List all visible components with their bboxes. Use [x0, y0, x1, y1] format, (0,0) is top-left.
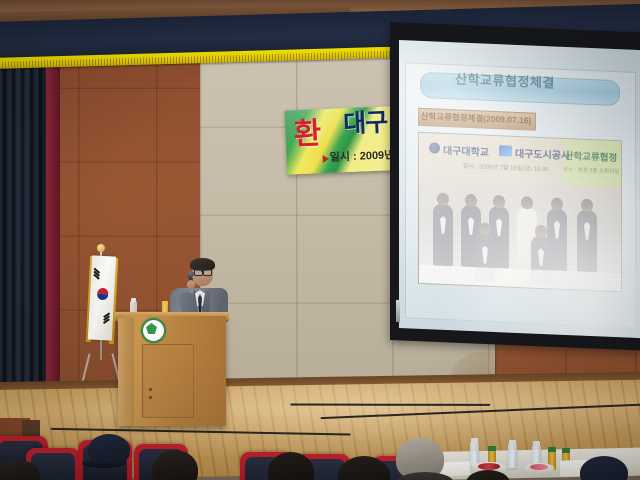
taeguk-blue-half	[97, 294, 108, 301]
glasses-bridge	[201, 271, 204, 272]
glasses-icon	[203, 269, 212, 276]
podium-bolt	[149, 388, 152, 391]
projection-screen-surface: 산학교류협정체결 산학교류협정체결(2009.07.16) 대구대학교 대구도시…	[399, 40, 640, 338]
cap-brim	[82, 459, 126, 468]
snack-plate-food	[478, 463, 500, 470]
microphone-head-icon	[188, 271, 194, 277]
bottle-cap	[509, 440, 516, 445]
banner-text-hwan: 환	[293, 119, 322, 150]
podium-front-panel	[142, 344, 194, 418]
water-bottle	[508, 444, 517, 468]
speaker-hand	[187, 280, 195, 289]
water-bottle-cap	[131, 298, 136, 302]
audience-person-cap	[88, 434, 130, 466]
banner-bullet-arrow-icon	[323, 155, 329, 163]
bottle-cap	[548, 447, 556, 452]
bottle-cap	[562, 448, 570, 453]
speaker-presenter	[168, 258, 230, 320]
floor-cable	[290, 404, 490, 406]
bottle-cap	[533, 441, 540, 446]
banner-text-daegu: 대구	[343, 110, 388, 137]
bottle-cap	[488, 446, 496, 451]
podium-left-bevel	[118, 318, 134, 426]
snack-plate-food	[530, 464, 548, 470]
flag-finial	[97, 244, 105, 252]
stage-curtain-navy	[0, 52, 46, 392]
flag-cloth-taegukgi	[88, 255, 116, 340]
auditorium-photo: 환 대구 일시 : 2009년 산학교류협정체결 산학교류협정체결(2009.0…	[0, 0, 640, 480]
screen-bottom-hook	[396, 300, 400, 322]
screen-projector-glare	[399, 40, 640, 338]
bottle-cap	[471, 438, 478, 443]
podium-bolt	[149, 396, 152, 399]
